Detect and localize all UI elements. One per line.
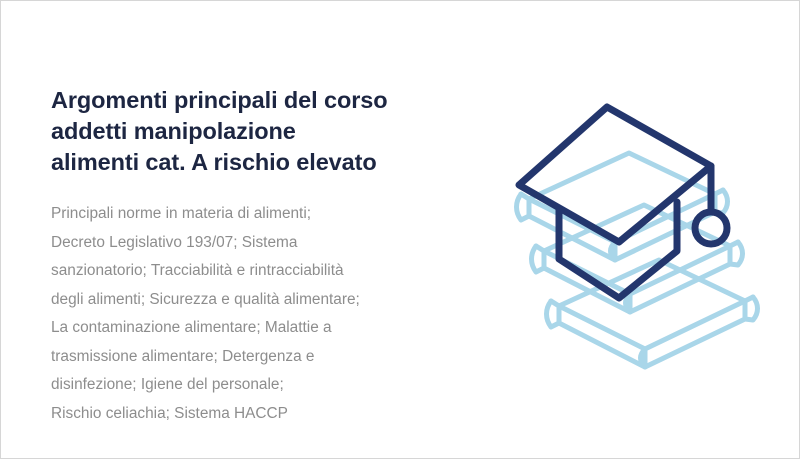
page-title-line-2: addetti manipolazione bbox=[51, 116, 471, 147]
illustration-svg bbox=[489, 79, 789, 379]
topics-line-6: trasmissione alimentare; Detergenza e bbox=[51, 343, 471, 372]
page-title-line-3: alimenti cat. A rischio elevato bbox=[51, 147, 471, 178]
course-topics-text: Principali norme in materia di alimenti;… bbox=[51, 200, 471, 428]
page-title-line-1: Argomenti principali del corso bbox=[51, 85, 471, 116]
graduation-cap-on-books-illustration bbox=[489, 79, 789, 379]
topics-line-8: Rischio celiachia; Sistema HACCP bbox=[51, 400, 471, 429]
books-stack-icon bbox=[517, 153, 758, 367]
topics-line-1: Principali norme in materia di alimenti; bbox=[51, 200, 471, 229]
topics-line-5: La contaminazione alimentare; Malattie a bbox=[51, 314, 471, 343]
topics-line-7: disinfezione; Igiene del personale; bbox=[51, 371, 471, 400]
text-column: Argomenti principali del corso addetti m… bbox=[51, 85, 471, 428]
topics-line-2: Decreto Legislativo 193/07; Sistema bbox=[51, 229, 471, 258]
course-topics-card: Argomenti principali del corso addetti m… bbox=[0, 0, 800, 459]
book-bottom-icon bbox=[547, 260, 758, 367]
topics-line-3: sanzionatorio; Tracciabilità e rintracci… bbox=[51, 257, 471, 286]
topics-line-4: degli alimenti; Sicurezza e qualità alim… bbox=[51, 286, 471, 315]
page-title: Argomenti principali del corso addetti m… bbox=[51, 85, 471, 178]
